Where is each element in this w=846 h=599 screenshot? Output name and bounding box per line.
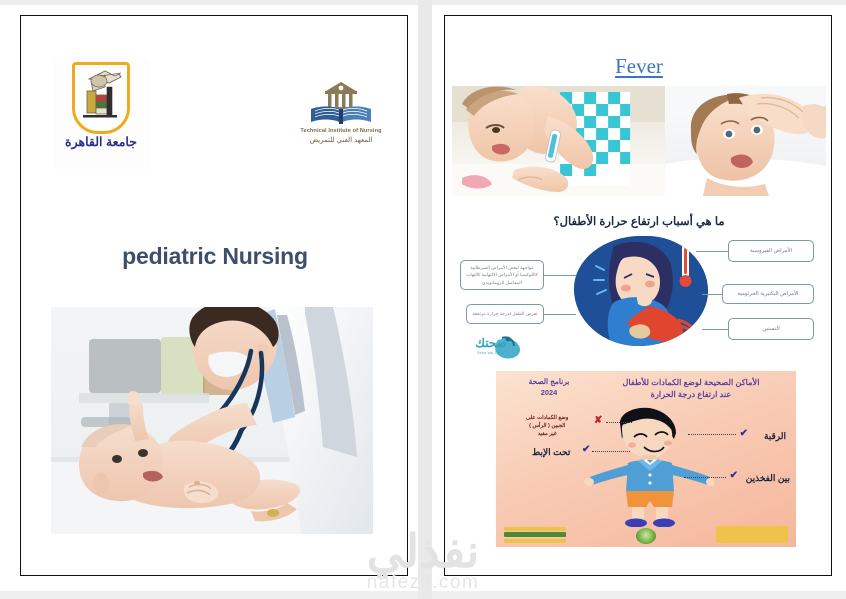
cause-box-right-2: الأمراض البكتيرية الجرثومية — [722, 284, 814, 304]
label-neck: الرقبة — [764, 431, 786, 442]
forehead-warning-note: وضع الكمادات على الجبين ( الرأس ) غير مف… — [526, 414, 568, 438]
hand-on-forehead-photo — [665, 86, 826, 196]
fever-heading: Fever — [445, 54, 832, 79]
cairo-shield-icon — [72, 62, 130, 134]
institute-english-caption: Technical Institute of Nursing — [289, 128, 393, 134]
forehead-warning-line3: غير مفيد — [526, 430, 568, 438]
doctor-examining-baby-photo — [51, 307, 373, 534]
slide-title[interactable]: جامعة القاهرة — [20, 15, 408, 576]
fever-photo-strip — [452, 86, 826, 196]
compress-placement-infographic: الأماكن الصحيحة لوضع الكمادات للأطفال عن… — [496, 371, 796, 547]
child-with-thermometer-photo — [452, 86, 665, 196]
page-gutter — [418, 0, 432, 599]
footer-bar-left-top — [504, 527, 566, 531]
compress-title: الأماكن الصحيحة لوضع الكمادات للأطفال عن… — [596, 377, 786, 401]
cause-connector-right-2 — [702, 294, 722, 295]
cairo-university-logo: جامعة القاهرة — [53, 58, 149, 170]
cause-box-left-1: مواجهة لبعض الأمراض السرطانية كاللوكيميا… — [460, 260, 544, 290]
footer-bar-right — [716, 526, 788, 543]
dotline-forehead — [606, 422, 632, 423]
compress-program-year: 2024 — [510, 388, 588, 399]
institute-arabic-caption: المعهد الفني للتمريض — [289, 136, 393, 144]
forehead-warning-line1: وضع الكمادات على — [526, 414, 568, 422]
page-title: pediatric Nursing — [21, 243, 408, 270]
cause-connector-left-1 — [544, 275, 576, 276]
slide-fever[interactable]: Fever — [444, 15, 832, 576]
compress-program: برنامج الصحة 2024 — [510, 377, 588, 398]
cause-box-right-1: الأمراض الفيروسية — [728, 240, 814, 262]
check-neck-icon: ✔ — [740, 428, 748, 439]
health-ministry-emblem-icon — [636, 528, 656, 544]
forehead-warning-line2: الجبين ( الرأس ) — [526, 422, 568, 430]
compress-title-line2: عند ارتفاع درجة الحرارة — [596, 389, 786, 401]
check-thighs-icon: ✔ — [730, 470, 738, 481]
x-forehead-icon: ✘ — [594, 415, 602, 426]
cause-connector-right-1 — [696, 251, 728, 252]
label-between-thighs: بين الفخذين — [746, 473, 790, 484]
cause-connector-left-2 — [544, 314, 576, 315]
fever-causes-infographic: ما هي أسباب ارتفاع حرارة الأطفال؟ — [452, 208, 826, 366]
cause-box-left-2: تعرض الطفل لدرجة حرارة مرتفعة — [466, 304, 544, 324]
causes-heading: ما هي أسباب ارتفاع حرارة الأطفال؟ — [452, 214, 826, 228]
dotline-armpit — [592, 451, 630, 452]
cairo-university-arabic-label: جامعة القاهرة — [53, 134, 149, 149]
sehatok-latin-word: Seha Wa Jamal — [458, 351, 524, 355]
technical-institute-of-nursing-logo: Technical Institute of Nursing المعهد ال… — [289, 78, 393, 166]
sick-child-illustration — [574, 236, 708, 346]
footer-bar-left-bottom — [504, 539, 566, 543]
dotline-neck — [688, 434, 736, 435]
sehatok-arabic-word: صحتك — [458, 336, 524, 350]
label-under-armpit: تحت الإبط — [532, 447, 570, 458]
cause-box-right-3: التسنين — [728, 318, 814, 340]
compress-title-line1: الأماكن الصحيحة لوضع الكمادات للأطفال — [596, 377, 786, 389]
sehatok-brand-logo: صحتك Seha Wa Jamal — [458, 334, 524, 362]
compress-program-label: برنامج الصحة — [510, 377, 588, 388]
dotline-thighs — [684, 477, 726, 478]
compress-footer — [496, 521, 796, 547]
logo-row: جامعة القاهرة — [21, 16, 407, 136]
footer-bar-left-middle — [504, 532, 566, 537]
check-armpit-icon: ✔ — [582, 444, 590, 455]
cause-connector-right-3 — [702, 329, 728, 330]
